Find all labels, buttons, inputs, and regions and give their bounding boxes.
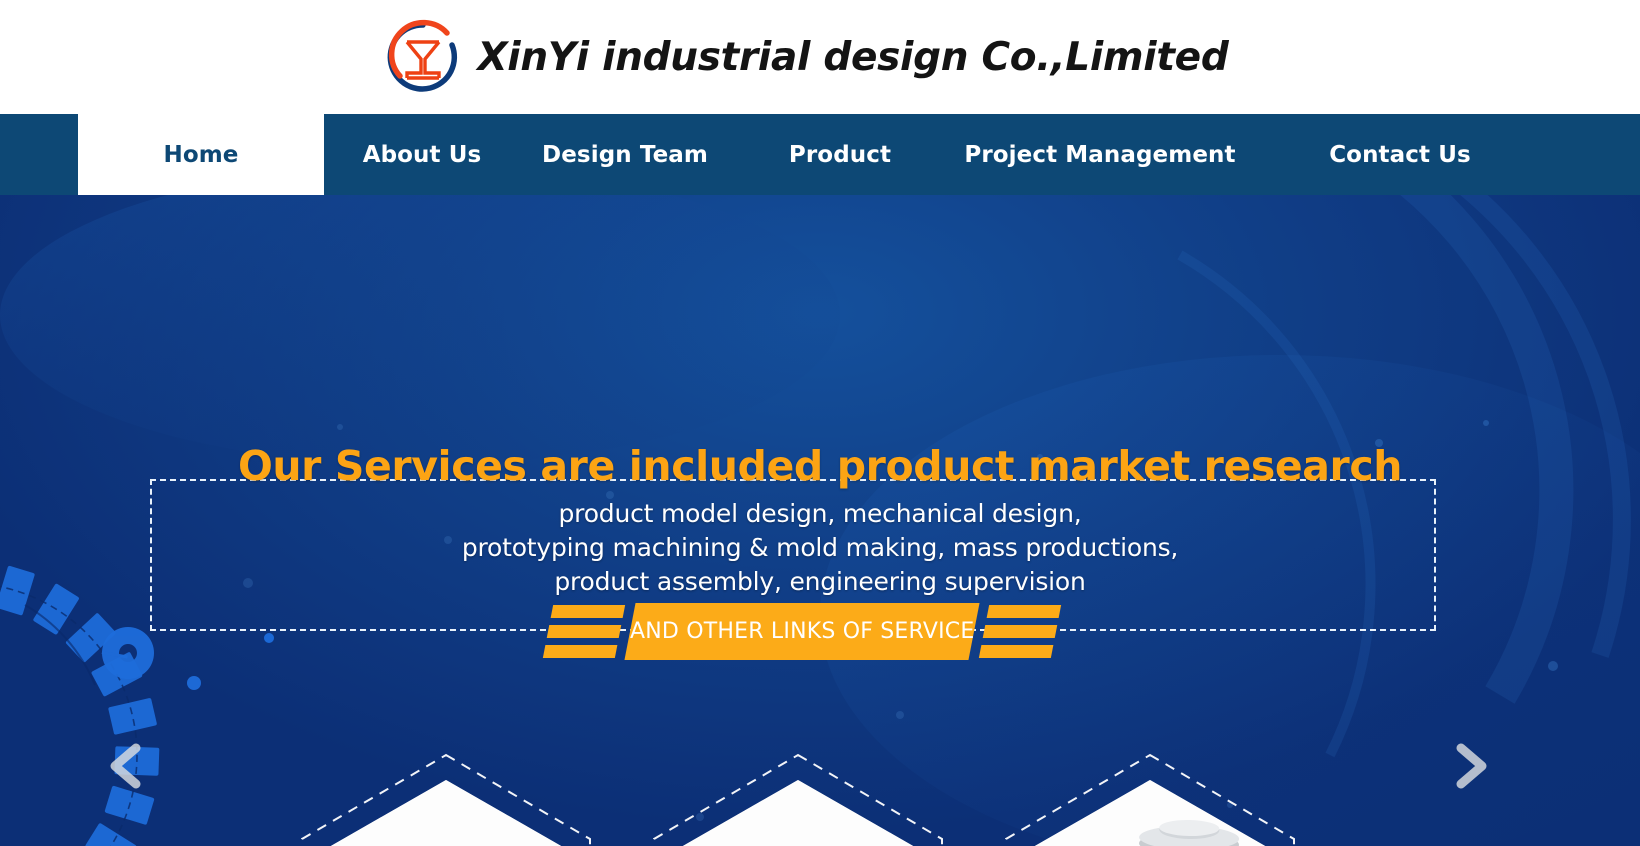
hero-body-line-1: product model design, mechanical design,: [0, 497, 1640, 531]
product-card-brass-fittings[interactable]: [298, 751, 594, 846]
hero-background-decoration: [0, 195, 1640, 846]
hero-body-lines: product model design, mechanical design,…: [0, 497, 1640, 599]
nav-item-product[interactable]: Product: [730, 114, 950, 195]
carousel-next-button[interactable]: [1440, 735, 1502, 797]
nav-item-contact-us[interactable]: Contact Us: [1250, 114, 1550, 195]
hero-body-line-3: product assembly, engineering supervisio…: [0, 565, 1640, 599]
product-card-steel-tubes[interactable]: [1002, 751, 1298, 846]
hero-body-line-2: prototyping machining & mold making, mas…: [0, 531, 1640, 565]
nav-left-spacer: [0, 114, 78, 195]
product-hexagon-row: [0, 751, 1640, 846]
carousel-prev-button[interactable]: [95, 735, 157, 797]
cta-right-bars-icon: [979, 603, 1062, 660]
cta-left-bars-icon: [542, 603, 625, 660]
hero-headline: Our Services are included product market…: [0, 443, 1640, 490]
nav-item-design-team[interactable]: Design Team: [520, 114, 730, 195]
main-navigation: Home About Us Design Team Product Projec…: [0, 114, 1640, 195]
cta-center-plate[interactable]: AND OTHER LINKS OF SERVICE: [624, 603, 980, 660]
xinyi-logo-icon: [384, 18, 462, 96]
cta-banner[interactable]: AND OTHER LINKS OF SERVICE: [548, 603, 1052, 660]
chevron-right-icon: [1440, 735, 1502, 797]
hero-banner: Our Services are included product market…: [0, 195, 1640, 846]
site-header: XinYi industrial design Co.,Limited: [0, 0, 1640, 114]
nav-item-about-us[interactable]: About Us: [324, 114, 520, 195]
chevron-left-icon: [95, 735, 157, 797]
hero-copy: Our Services are included product market…: [0, 443, 1640, 599]
nav-item-home[interactable]: Home: [78, 114, 324, 195]
product-card-white-devices[interactable]: [650, 751, 946, 846]
brand-logo[interactable]: XinYi industrial design Co.,Limited: [384, 18, 1229, 96]
brand-name: XinYi industrial design Co.,Limited: [478, 35, 1229, 80]
nav-item-project-management[interactable]: Project Management: [950, 114, 1250, 195]
cta-label: AND OTHER LINKS OF SERVICE: [630, 619, 974, 644]
